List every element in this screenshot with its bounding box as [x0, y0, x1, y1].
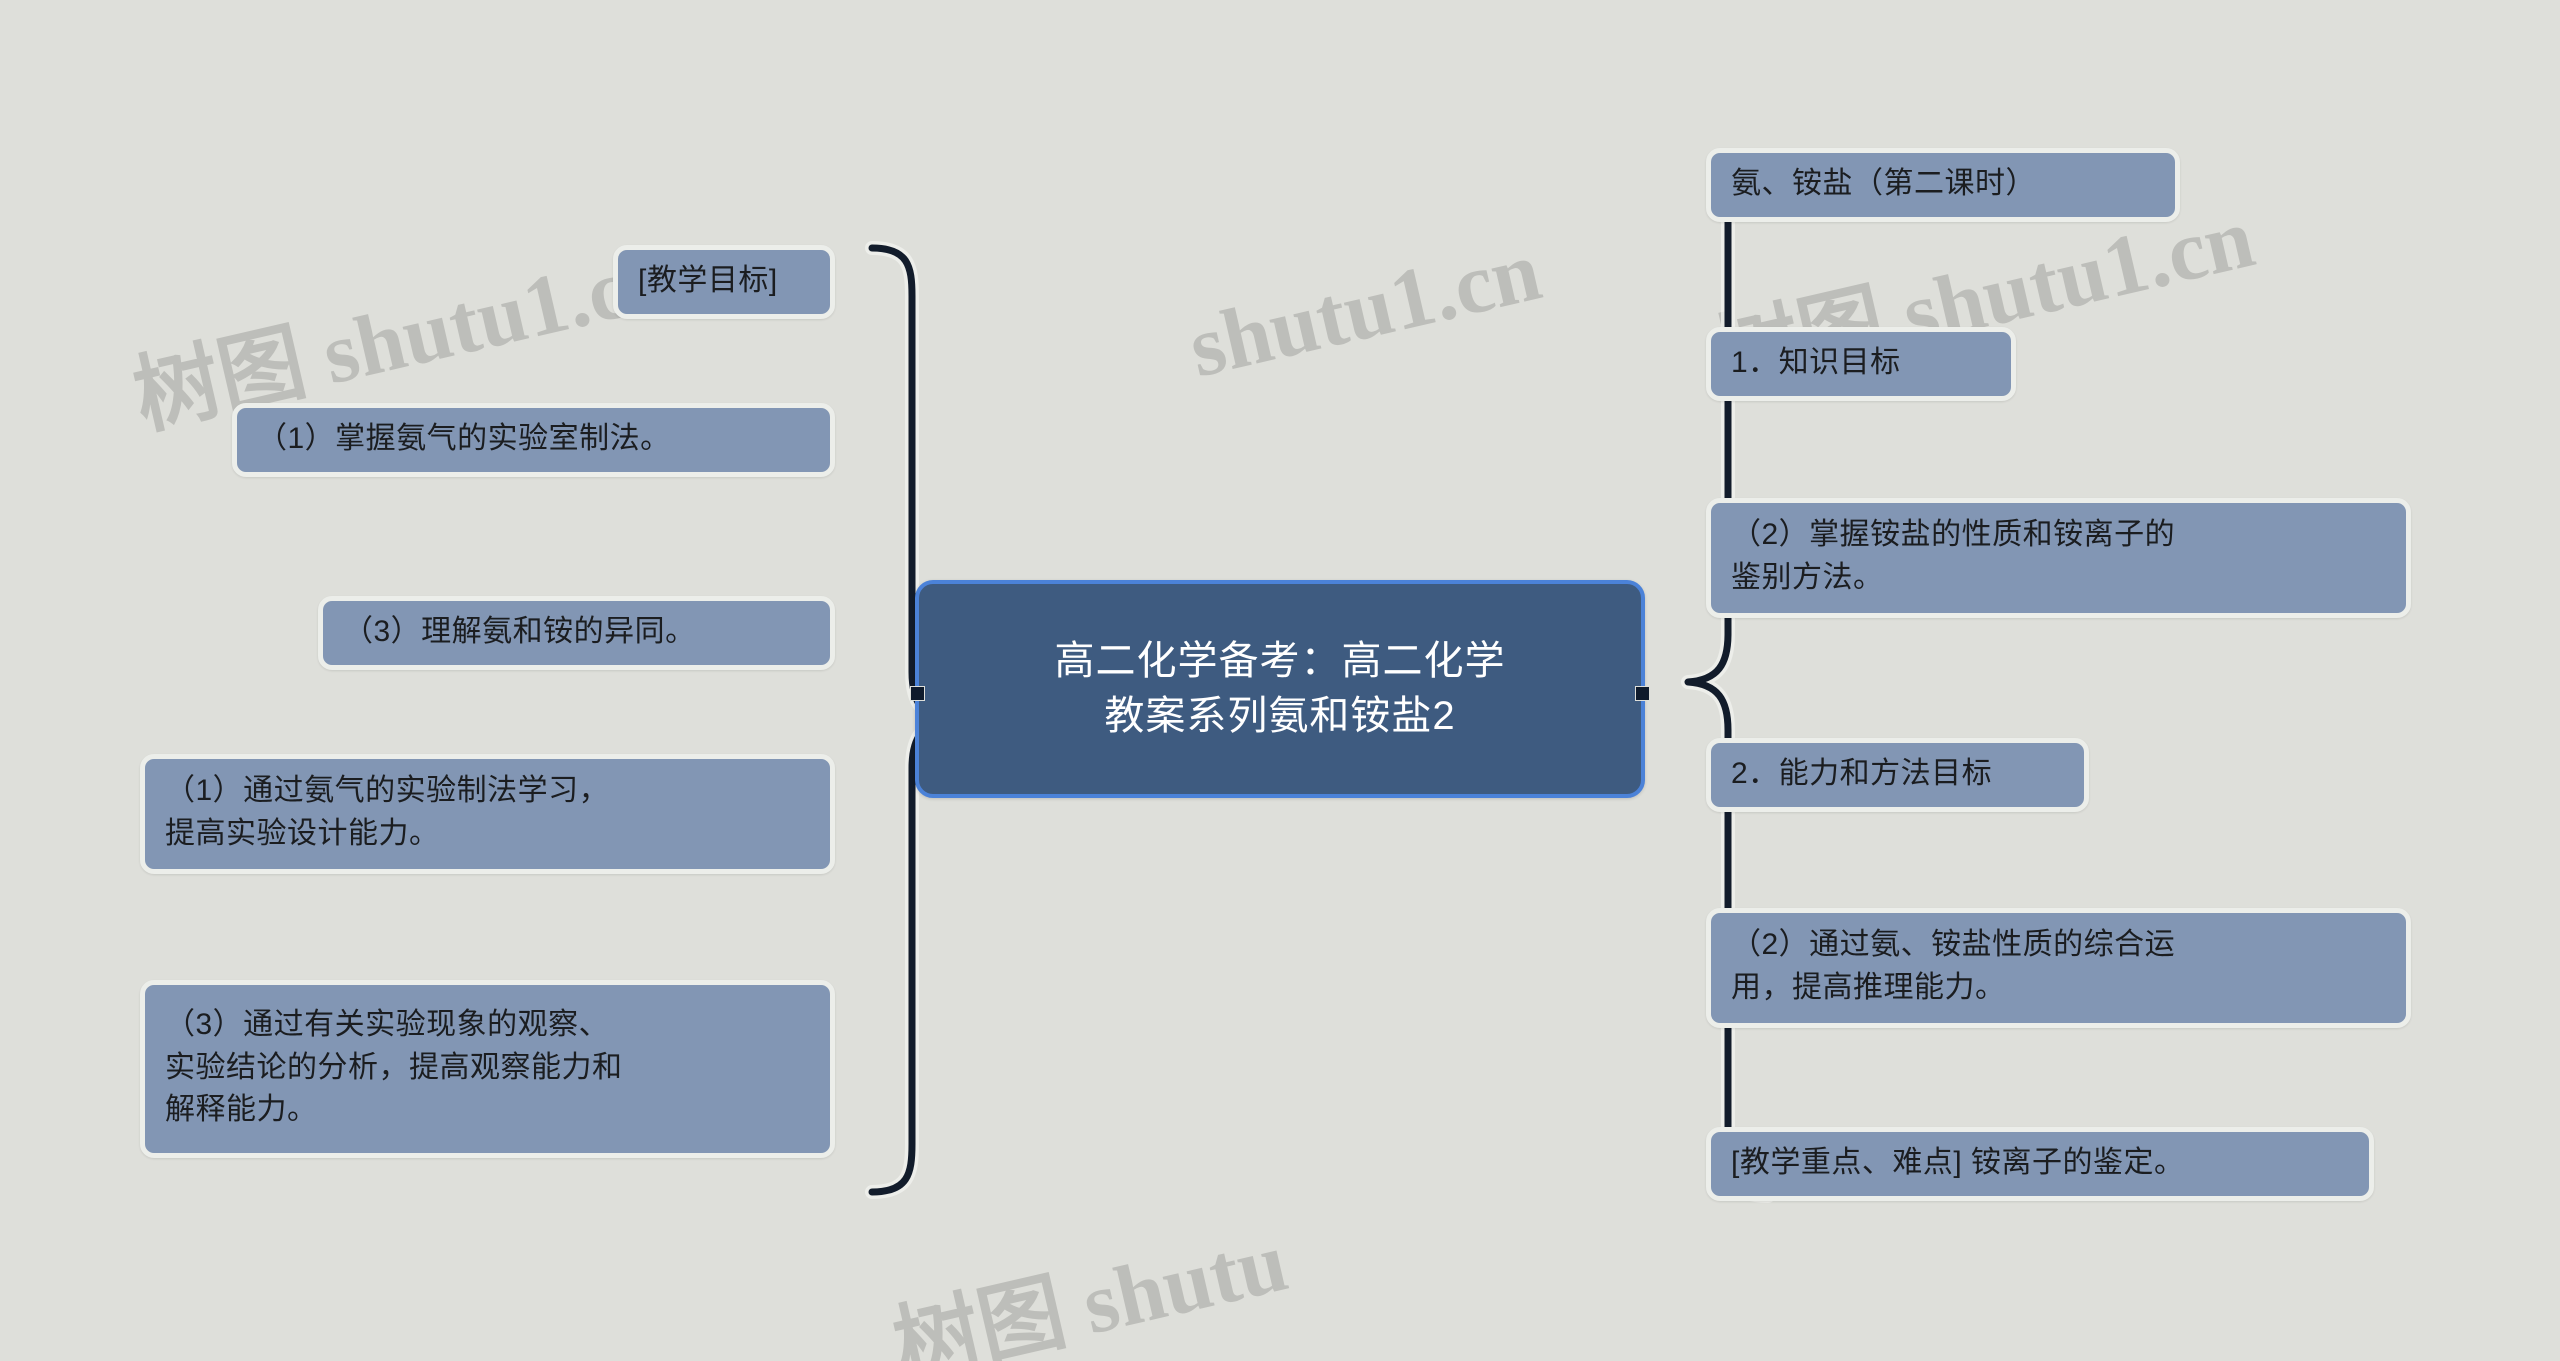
right-curly-brace: [1650, 158, 1780, 1204]
left-node-1[interactable]: [教学目标]: [613, 245, 835, 319]
right-node-3[interactable]: （2）掌握铵盐的性质和铵离子的 鉴别方法。: [1706, 498, 2411, 618]
left-node-5-line-2: 实验结论的分析，提高观察能力和: [165, 1051, 623, 1084]
watermark-4: 树图 shutu: [880, 1190, 1297, 1361]
left-node-2-label: （1）掌握氨气的实验室制法。: [257, 418, 810, 461]
central-node-line-1: 高二化学备考：高二化学: [1055, 639, 1506, 683]
right-node-5[interactable]: （2）通过氨、铵盐性质的综合运 用，提高推理能力。: [1706, 908, 2411, 1028]
left-node-5-line-1: （3）通过有关实验现象的观察、: [165, 1008, 609, 1041]
right-node-3-line-1: （2）掌握铵盐的性质和铵离子的: [1731, 518, 2175, 551]
right-node-2-label: 1．知识目标: [1731, 342, 1991, 385]
right-node-5-line-2: 用，提高推理能力。: [1731, 971, 2006, 1004]
right-node-3-label: （2）掌握铵盐的性质和铵离子的 鉴别方法。: [1731, 514, 2386, 599]
right-node-3-line-2: 鉴别方法。: [1731, 561, 1884, 594]
central-node-label: 高二化学备考：高二化学 教案系列氨和铵盐2: [1055, 634, 1506, 744]
left-node-3[interactable]: （3）理解氨和铵的异同。: [318, 596, 835, 670]
left-node-5-label: （3）通过有关实验现象的观察、 实验结论的分析，提高观察能力和 解释能力。: [165, 1004, 810, 1132]
selection-handle-left[interactable]: [910, 686, 925, 701]
mindmap-canvas: 树图 shutu1.cn shutu1.cn 树图 shutu1.cn 树图 s…: [0, 0, 2560, 1361]
watermark-2: shutu1.cn: [1180, 220, 1549, 398]
central-node-line-2: 教案系列氨和铵盐2: [1104, 694, 1455, 738]
right-node-4[interactable]: 2．能力和方法目标: [1706, 738, 2089, 812]
selection-handle-right[interactable]: [1635, 686, 1650, 701]
right-node-6[interactable]: [教学重点、难点] 铵离子的鉴定。: [1706, 1127, 2374, 1201]
right-node-1-label: 氨、铵盐（第二课时）: [1731, 163, 2155, 206]
left-node-3-label: （3）理解氨和铵的异同。: [343, 611, 810, 654]
right-node-6-label: [教学重点、难点] 铵离子的鉴定。: [1731, 1142, 2349, 1185]
right-node-2[interactable]: 1．知识目标: [1706, 327, 2016, 401]
left-node-4-line-1: （1）通过氨气的实验制法学习，: [165, 774, 609, 807]
left-node-4[interactable]: （1）通过氨气的实验制法学习， 提高实验设计能力。: [140, 754, 835, 874]
left-node-5-line-3: 解释能力。: [165, 1093, 318, 1126]
left-node-4-line-2: 提高实验设计能力。: [165, 817, 440, 850]
right-node-1[interactable]: 氨、铵盐（第二课时）: [1706, 148, 2180, 222]
central-node[interactable]: 高二化学备考：高二化学 教案系列氨和铵盐2: [915, 580, 1645, 798]
left-node-5[interactable]: （3）通过有关实验现象的观察、 实验结论的分析，提高观察能力和 解释能力。: [140, 980, 835, 1158]
left-node-1-label: [教学目标]: [638, 260, 810, 303]
right-node-5-line-1: （2）通过氨、铵盐性质的综合运: [1731, 928, 2175, 961]
left-node-4-label: （1）通过氨气的实验制法学习， 提高实验设计能力。: [165, 770, 810, 855]
left-node-2[interactable]: （1）掌握氨气的实验室制法。: [232, 403, 835, 477]
right-node-5-label: （2）通过氨、铵盐性质的综合运 用，提高推理能力。: [1731, 924, 2386, 1009]
right-node-4-label: 2．能力和方法目标: [1731, 753, 2064, 796]
